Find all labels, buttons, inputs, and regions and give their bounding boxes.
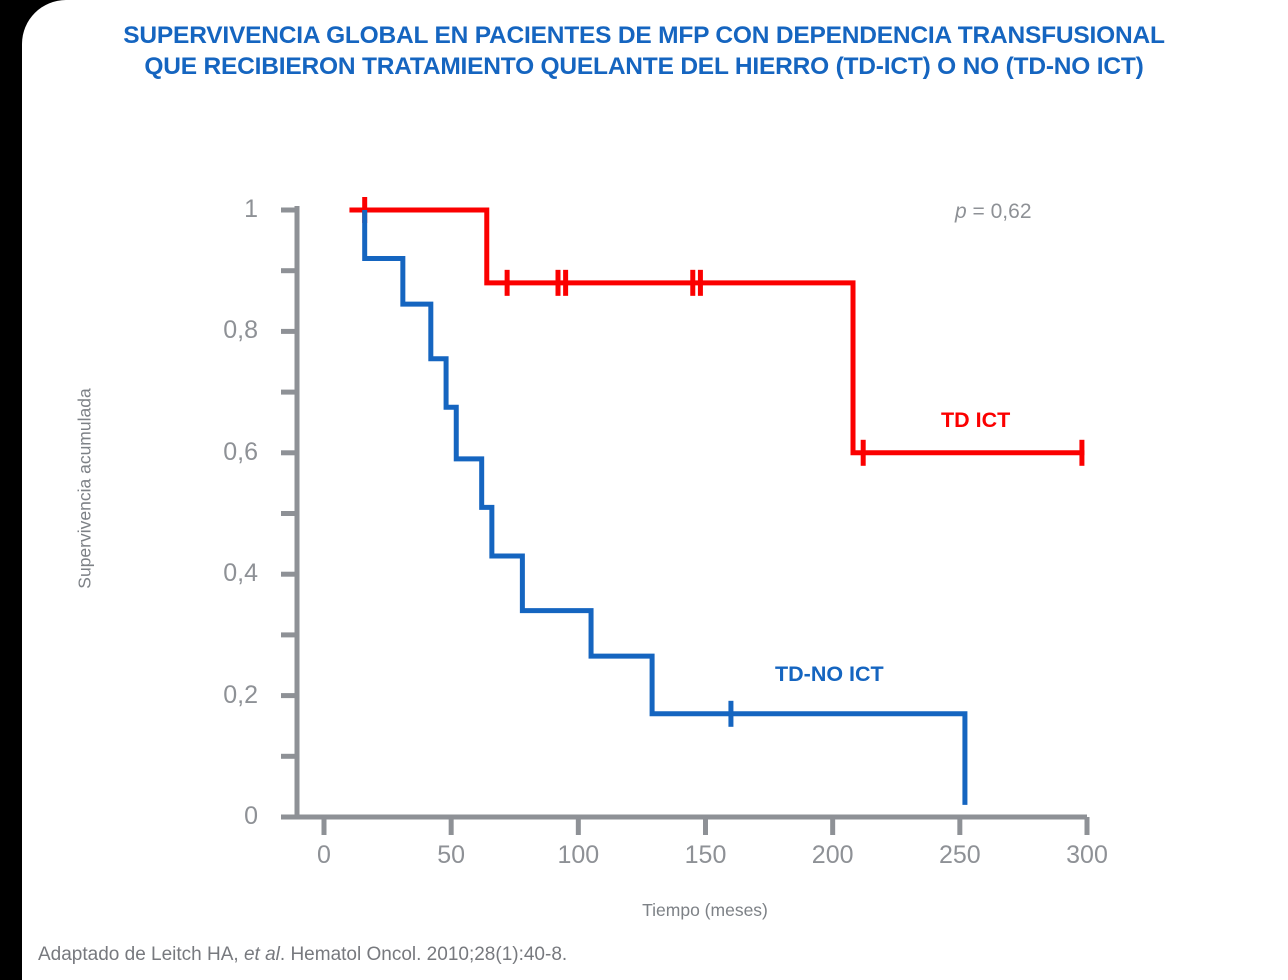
footnote-part-2: . Hematol Oncol. 2010;28(1):40-8. <box>280 944 567 965</box>
series-step-line <box>365 210 965 805</box>
p-symbol: p <box>955 200 967 223</box>
x-axis-tick-label: 200 <box>793 843 873 868</box>
footnote-part-1: Adaptado de Leitch HA, <box>38 944 244 965</box>
p-value-text: = 0,62 <box>967 200 1032 223</box>
x-axis-title: Tiempo (meses) <box>555 900 855 921</box>
x-axis-ticks <box>324 817 1087 835</box>
source-footnote: Adaptado de Leitch HA, et al. Hematol On… <box>38 944 567 966</box>
kaplan-meier-chart <box>22 0 1288 940</box>
footnote-etal: et al <box>244 944 280 965</box>
x-axis-tick-label: 50 <box>411 843 491 868</box>
y-axis-tick-label: 0,8 <box>198 318 258 343</box>
y-axis-tick-label: 1 <box>198 197 258 222</box>
slide-card: SUPERVIVENCIA GLOBAL EN PACIENTES DE MFP… <box>22 0 1288 980</box>
p-value-annotation: p = 0,62 <box>955 200 1032 224</box>
slide-stage: SUPERVIVENCIA GLOBAL EN PACIENTES DE MFP… <box>22 0 1288 980</box>
chart-series <box>349 197 1084 805</box>
y-axis-tick-label: 0,2 <box>198 683 258 708</box>
x-axis-tick-label: 250 <box>920 843 1000 868</box>
y-axis-tick-label: 0,4 <box>198 561 258 586</box>
y-axis-tick-label: 0 <box>198 804 258 829</box>
y-axis-title: Supervivencia acumulada <box>75 339 96 639</box>
series-label-td-no-ict: TD-NO ICT <box>775 662 884 687</box>
chart-plot-area: 00,20,40,60,81 050100150200250300 Superv… <box>22 0 1288 940</box>
x-axis-tick-label: 300 <box>1047 843 1127 868</box>
y-axis-tick-label: 0,6 <box>198 440 258 465</box>
x-axis-tick-label: 150 <box>666 843 746 868</box>
x-axis-tick-label: 0 <box>284 843 364 868</box>
series-label-td-ict: TD ICT <box>941 408 1010 433</box>
x-axis-tick-label: 100 <box>538 843 618 868</box>
